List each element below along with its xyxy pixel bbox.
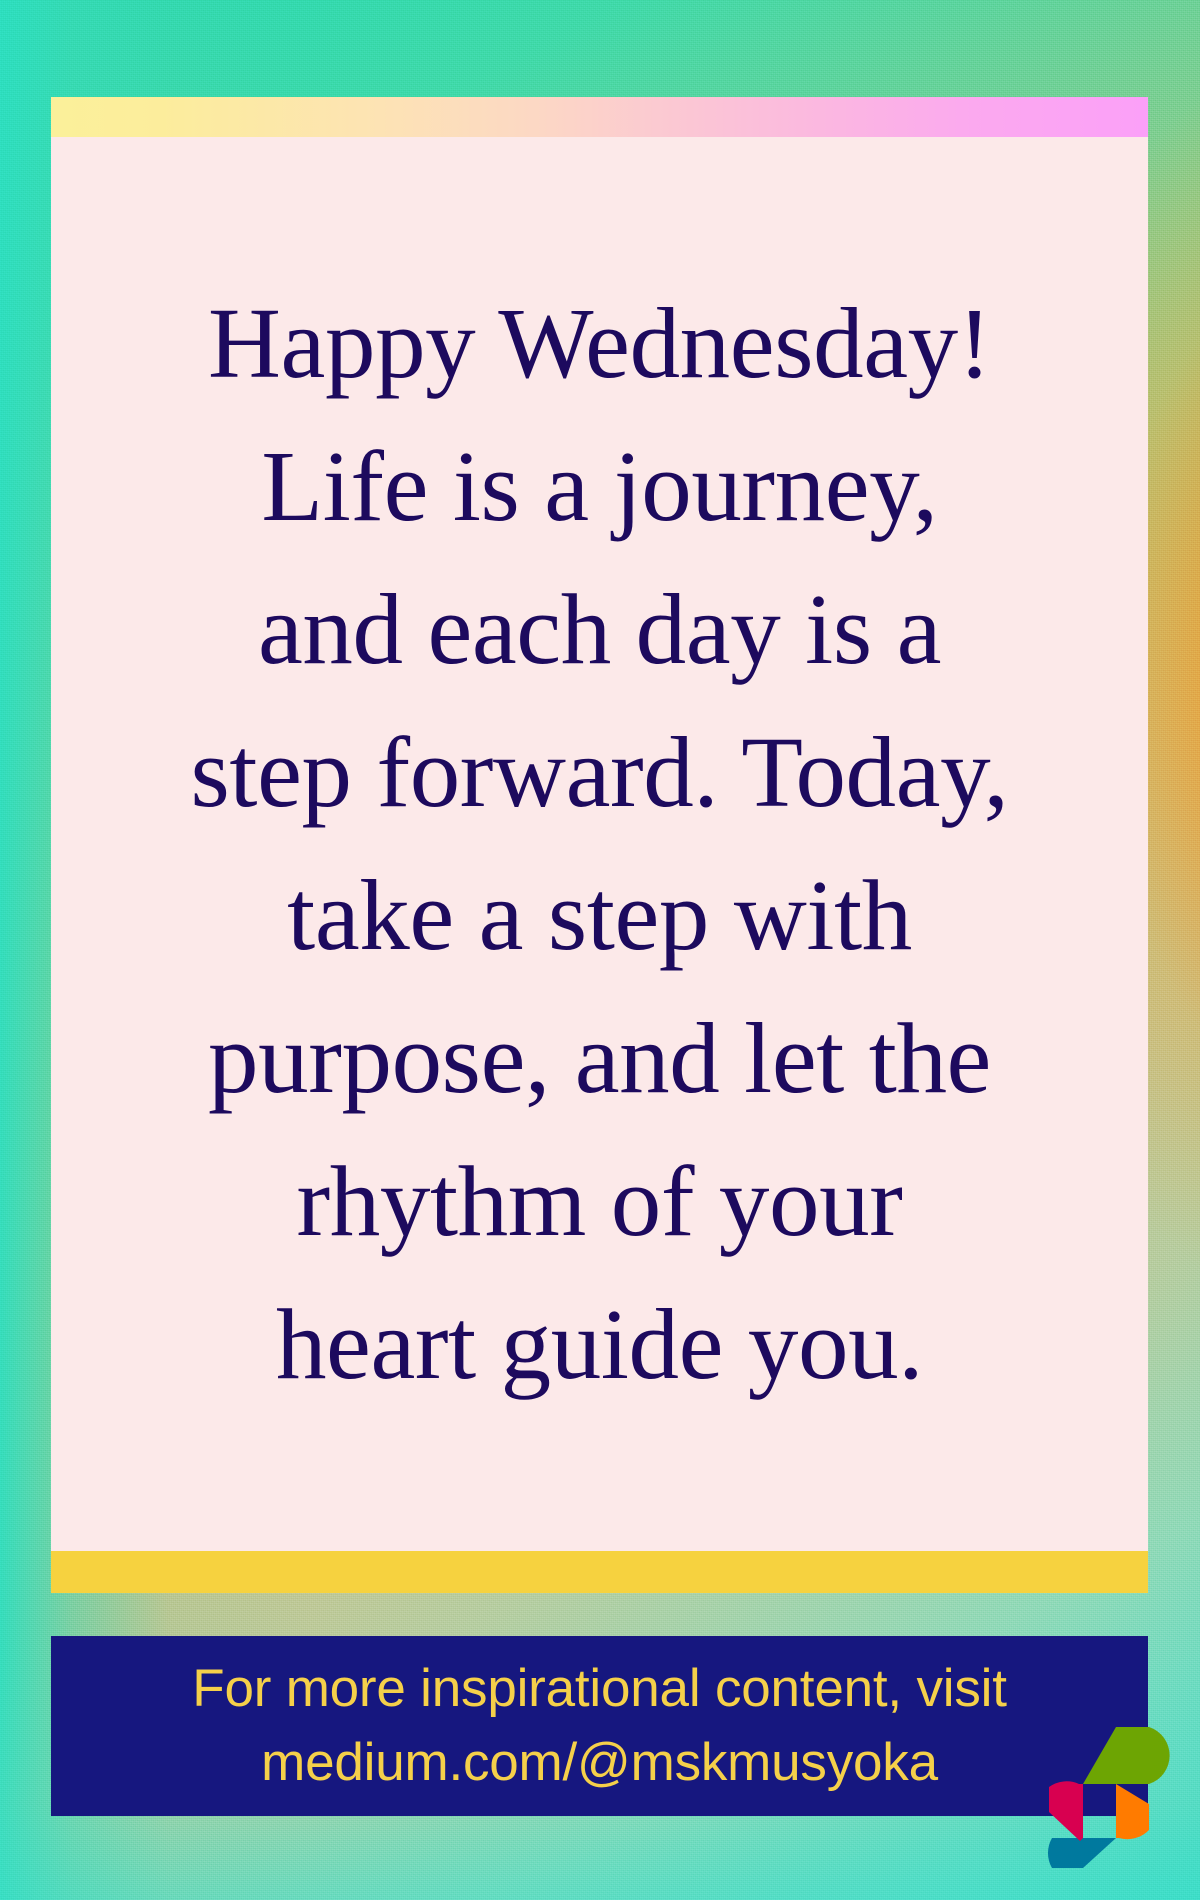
quote-card: Happy Wednesday! Life is a journey, and … xyxy=(51,97,1148,1593)
footer-banner: For more inspirational content, visit me… xyxy=(51,1636,1148,1816)
pinwheel-logo xyxy=(1023,1700,1178,1876)
logo-orange-blade xyxy=(1116,1784,1149,1839)
quote-line: step forward. Today, xyxy=(77,701,1122,844)
poster-canvas: Happy Wednesday! Life is a journey, and … xyxy=(0,0,1200,1900)
quote-line: and each day is a xyxy=(77,558,1122,701)
quote-text-block: Happy Wednesday! Life is a journey, and … xyxy=(77,272,1122,1416)
footer-handle-line[interactable]: medium.com/@mskmusyoka xyxy=(261,1726,938,1800)
card-bottom-yellow-bar xyxy=(51,1551,1148,1593)
logo-green-blade xyxy=(1083,1727,1170,1784)
quote-line: rhythm of your xyxy=(77,1130,1122,1273)
card-top-gradient-bar xyxy=(51,97,1148,137)
quote-line: purpose, and let the xyxy=(77,987,1122,1130)
logo-teal-blade xyxy=(1048,1838,1116,1868)
quote-line: take a step with xyxy=(77,844,1122,987)
quote-line: Life is a journey, xyxy=(77,415,1122,558)
quote-line: heart guide you. xyxy=(77,1273,1122,1416)
logo-crimson-blade xyxy=(1049,1781,1083,1841)
quote-card-body: Happy Wednesday! Life is a journey, and … xyxy=(51,137,1148,1551)
footer-cta-line: For more inspirational content, visit xyxy=(192,1652,1006,1726)
quote-line: Happy Wednesday! xyxy=(77,272,1122,415)
